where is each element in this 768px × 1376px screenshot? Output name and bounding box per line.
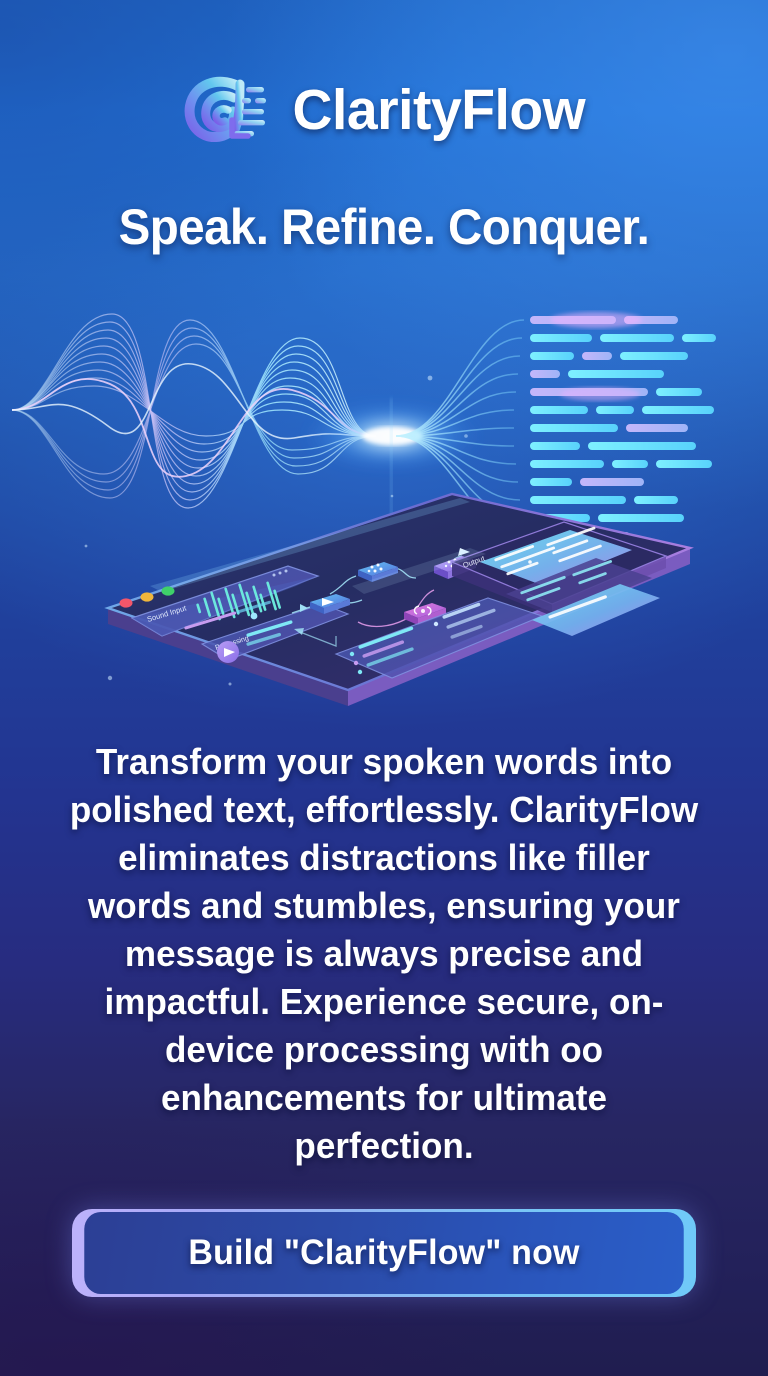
brand-name: ClarityFlow — [293, 77, 586, 143]
soundwave-swirl-logo-icon — [178, 64, 270, 156]
hero-illustration: Sound Input — [0, 286, 768, 726]
build-clarityflow-button[interactable]: Build "ClarityFlow" now — [84, 1212, 683, 1294]
cta-button-border: Build "ClarityFlow" now — [72, 1209, 696, 1297]
page-title: Speak. Refine. Conquer. — [19, 198, 749, 256]
dashboard-mockup: Sound Input — [108, 494, 690, 706]
description-text: Transform your spoken words into polishe… — [69, 738, 699, 1170]
brand-header: ClarityFlow — [0, 64, 768, 156]
promo-page: ClarityFlow Speak. Refine. Conquer. — [0, 0, 768, 1376]
